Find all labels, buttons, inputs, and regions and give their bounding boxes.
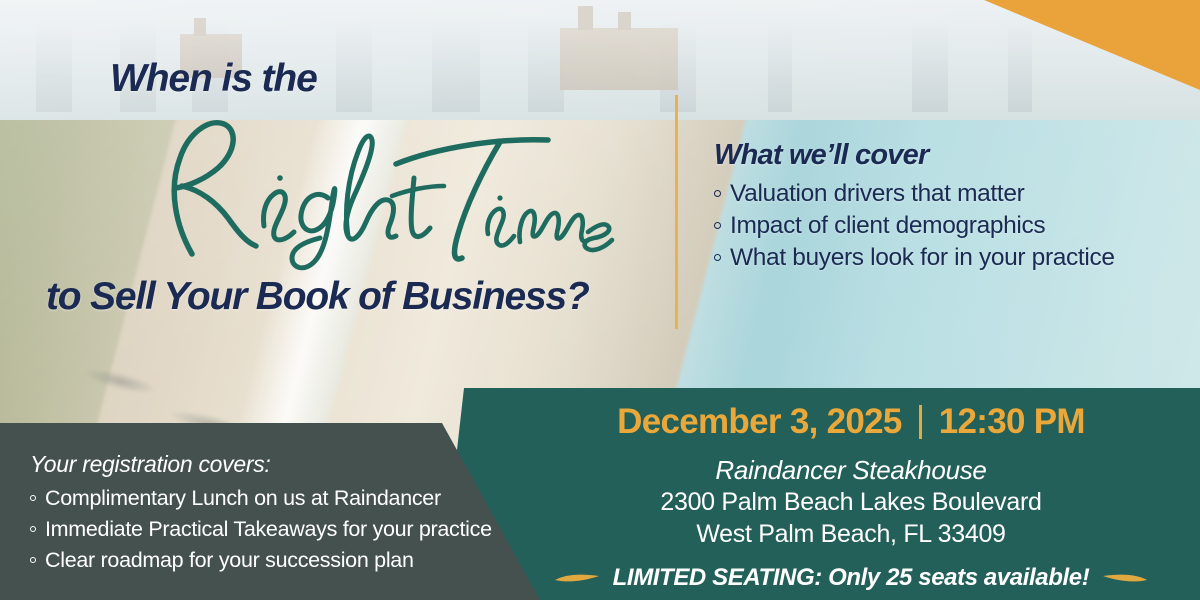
- event-details-panel: December 3, 2025 12:30 PM Raindancer Ste…: [440, 388, 1200, 600]
- venue-address-line-1: 2300 Palm Beach Lakes Boulevard: [660, 486, 1041, 518]
- registration-list-item: Immediate Practical Takeaways for your p…: [30, 514, 540, 545]
- registration-list-item: Complimentary Lunch on us at Raindancer: [30, 483, 540, 514]
- ring-bullet-icon: [714, 190, 721, 197]
- date-time-row: December 3, 2025 12:30 PM: [617, 402, 1085, 442]
- registration-item-text: Immediate Practical Takeaways for your p…: [45, 514, 492, 545]
- registration-item-text: Clear roadmap for your succession plan: [45, 545, 414, 576]
- cover-list-item: Valuation drivers that matter: [714, 178, 1184, 210]
- registration-list: Complimentary Lunch on us at Raindancer …: [30, 483, 540, 577]
- headline-script-right-time: [96, 86, 616, 271]
- event-date: December 3, 2025: [617, 402, 902, 442]
- cover-item-text: Impact of client demographics: [730, 210, 1045, 242]
- registration-item-text: Complimentary Lunch on us at Raindancer: [45, 483, 441, 514]
- venue-block: Raindancer Steakhouse 2300 Palm Beach La…: [660, 455, 1041, 550]
- registration-list-item: Clear roadmap for your succession plan: [30, 545, 540, 576]
- cover-item-text: What buyers look for in your practice: [730, 242, 1115, 274]
- headline-block: When is the: [0, 0, 680, 420]
- ring-bullet-icon: [30, 526, 36, 532]
- ring-bullet-icon: [30, 495, 36, 501]
- venue-address-line-2: West Palm Beach, FL 33409: [660, 518, 1041, 550]
- event-banner: When is the: [0, 0, 1200, 600]
- cover-list-item: Impact of client demographics: [714, 210, 1184, 242]
- ring-bullet-icon: [714, 222, 721, 229]
- seating-notice: LIMITED SEATING: Only 25 seats available…: [613, 564, 1090, 592]
- cover-list-item: What buyers look for in your practice: [714, 242, 1184, 274]
- gold-leaf-flourish-left-icon: [554, 572, 600, 584]
- venue-name: Raindancer Steakhouse: [660, 455, 1041, 486]
- headline-line-3: to Sell Your Book of Business?: [46, 275, 589, 319]
- ring-bullet-icon: [714, 254, 721, 261]
- cover-list: Valuation drivers that matter Impact of …: [714, 178, 1184, 274]
- gold-leaf-flourish-right-icon: [1102, 572, 1148, 584]
- ring-bullet-icon: [30, 557, 36, 563]
- cover-item-text: Valuation drivers that matter: [730, 178, 1024, 210]
- date-time-separator: [919, 405, 922, 439]
- event-time: 12:30 PM: [939, 402, 1085, 442]
- what-we-will-cover-section: What we’ll cover Valuation drivers that …: [714, 139, 1184, 274]
- cover-title: What we’ll cover: [714, 139, 1184, 172]
- seating-notice-row: LIMITED SEATING: Only 25 seats available…: [554, 564, 1149, 592]
